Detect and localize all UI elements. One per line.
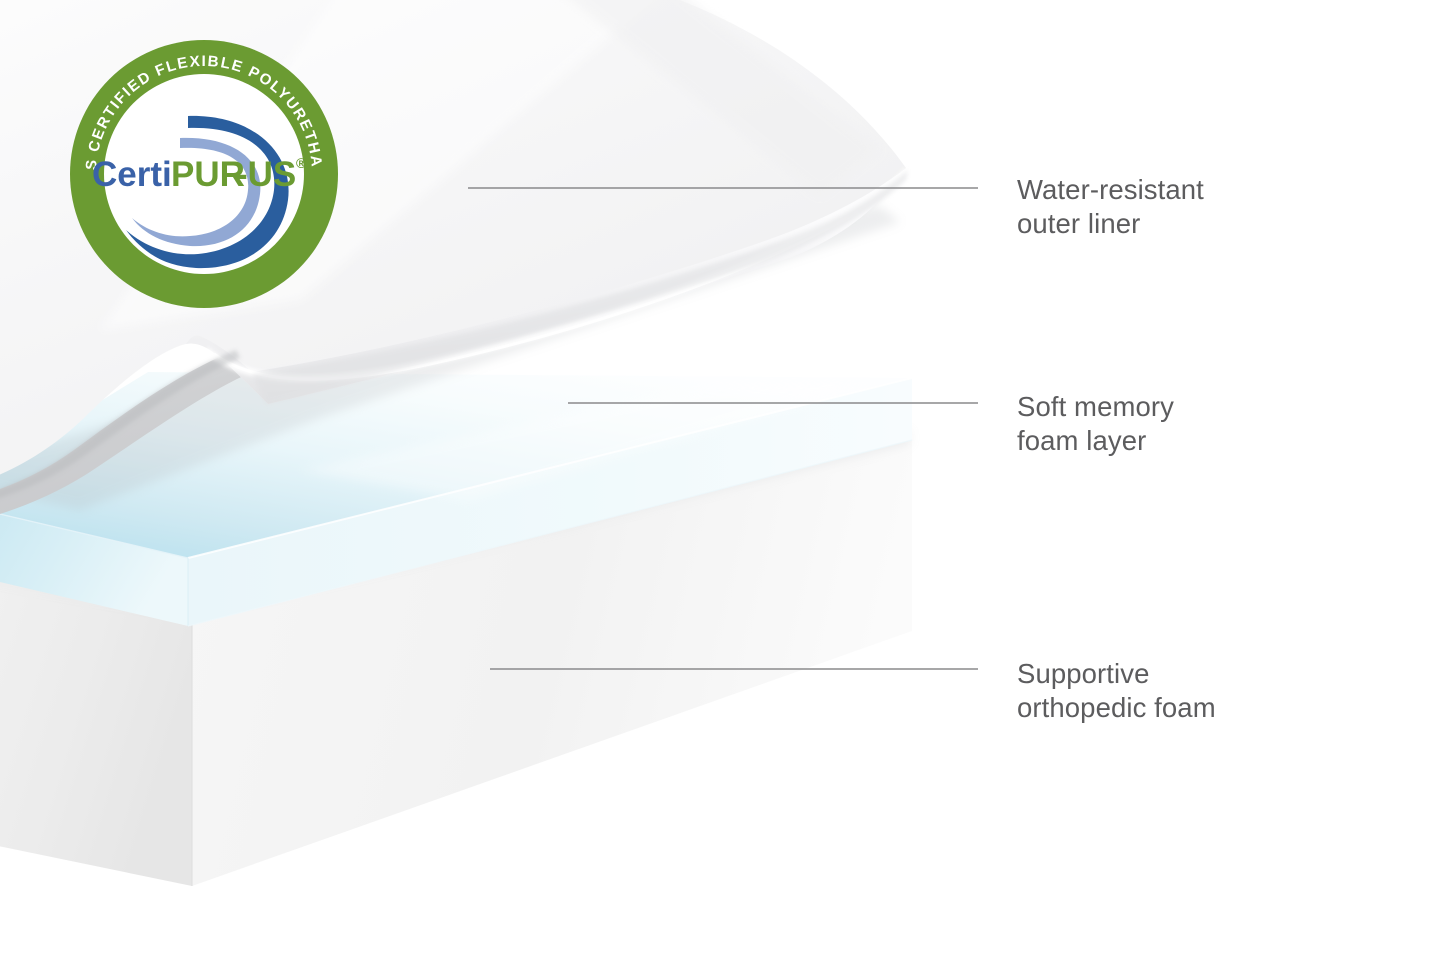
badge-wordmark-dash-us: -US: [236, 155, 296, 194]
badge-wordmark-certi: Certi: [92, 155, 172, 194]
callout-supportive-orthopedic-foam: Supportive orthopedic foam: [1017, 657, 1216, 725]
callout-water-resistant-outer-liner: Water-resistant outer liner: [1017, 173, 1204, 241]
diagram-canvas: CONTAINS CERTIFIED FLEXIBLE POLYURETHANE…: [0, 0, 1445, 964]
badge-wordmark-pur: PUR: [171, 155, 245, 194]
badge-registered-mark: ®: [296, 155, 307, 171]
callout-soft-memory-foam-layer: Soft memory foam layer: [1017, 390, 1174, 458]
certipur-us-badge: CONTAINS CERTIFIED FLEXIBLE POLYURETHANE…: [68, 38, 340, 310]
badge-wordmark: Certi PUR -US ®: [92, 155, 307, 194]
